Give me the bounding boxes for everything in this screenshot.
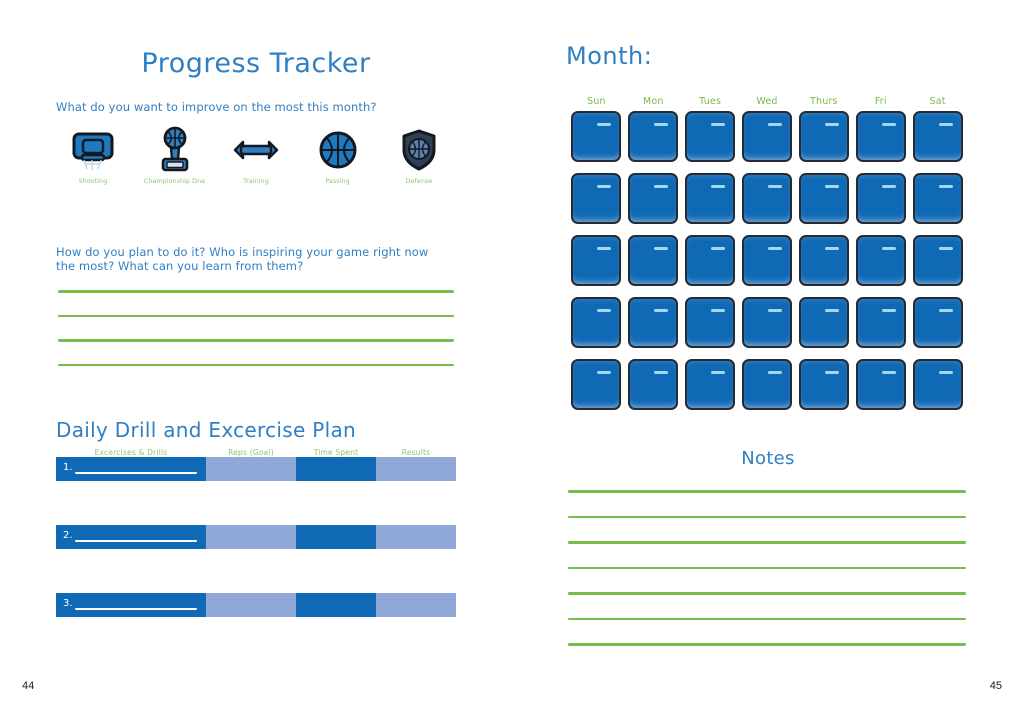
calendar-day-cell[interactable] [742, 297, 792, 348]
calendar-cell-wrapper [852, 235, 909, 297]
calendar-cell-wrapper [739, 359, 796, 421]
calendar-cell-wrapper [568, 173, 625, 235]
day-header-sun: Sun [568, 96, 625, 107]
calendar-day-cell[interactable] [799, 359, 849, 410]
drill-results-cell[interactable] [376, 593, 456, 617]
calendar-day-cell[interactable] [856, 297, 906, 348]
calendar-cell-wrapper [625, 111, 682, 173]
calendar-cell-wrapper [568, 297, 625, 359]
write-line [75, 472, 197, 474]
icon-option-passing[interactable]: Passing [301, 126, 375, 186]
calendar-cell-wrapper [625, 235, 682, 297]
calendar-day-cell[interactable] [571, 235, 621, 286]
drill-time-cell[interactable] [296, 457, 376, 481]
calendar-cell-wrapper [739, 111, 796, 173]
table-row: 1. [56, 457, 456, 481]
day-header-thurs: Thurs [795, 96, 852, 107]
right-page: Month: Sun Mon Tues Wed Thurs Fri Sat No… [512, 0, 1024, 708]
notes-title: Notes [512, 448, 1024, 469]
calendar-day-cell[interactable] [685, 235, 735, 286]
worksheet-spread: Progress Tracker What do you want to imp… [0, 0, 1024, 708]
calendar-cell-wrapper [625, 173, 682, 235]
calendar-day-cell[interactable] [685, 297, 735, 348]
notes-line[interactable] [568, 490, 966, 493]
row-number: 1. [63, 463, 73, 473]
calendar-cell-wrapper [909, 111, 966, 173]
drill-reps-cell[interactable] [206, 457, 296, 481]
calendar-cell-wrapper [795, 111, 852, 173]
notes-line[interactable] [568, 592, 966, 595]
calendar-cell-wrapper [795, 297, 852, 359]
icon-option-label: Defense [406, 178, 433, 186]
notes-line[interactable] [568, 516, 966, 519]
question-two-line-2: the most? What can you learn from them? [56, 259, 466, 273]
calendar-day-cell[interactable] [799, 297, 849, 348]
drill-time-cell[interactable] [296, 593, 376, 617]
calendar-day-cell[interactable] [913, 111, 963, 162]
calendar-cell-wrapper [625, 359, 682, 421]
question-two: How do you plan to do it? Who is inspiri… [56, 245, 466, 273]
calendar-day-cell[interactable] [856, 359, 906, 410]
calendar-day-cell[interactable] [742, 173, 792, 224]
left-page: Progress Tracker What do you want to imp… [0, 0, 512, 708]
drill-time-cell[interactable] [296, 525, 376, 549]
calendar-day-cell[interactable] [685, 173, 735, 224]
answer-lines [58, 290, 454, 388]
calendar-grid [568, 111, 966, 421]
calendar-day-cell[interactable] [856, 235, 906, 286]
calendar-cell-wrapper [909, 297, 966, 359]
day-header-sat: Sat [909, 96, 966, 107]
notes-line[interactable] [568, 618, 966, 621]
calendar-day-cell[interactable] [856, 111, 906, 162]
table-row: 3. [56, 593, 456, 617]
day-header-wed: Wed [739, 96, 796, 107]
calendar-cell-wrapper [795, 359, 852, 421]
calendar-cell-wrapper [568, 111, 625, 173]
calendar-cell-wrapper [682, 235, 739, 297]
answer-line[interactable] [58, 339, 454, 342]
calendar-cell-wrapper [568, 235, 625, 297]
notes-line[interactable] [568, 643, 966, 646]
calendar-day-cell[interactable] [913, 173, 963, 224]
drill-exercise-cell[interactable]: 3. [56, 593, 206, 617]
calendar-day-cell[interactable] [571, 173, 621, 224]
day-header-fri: Fri [852, 96, 909, 107]
calendar-cell-wrapper [795, 235, 852, 297]
icon-option-training[interactable]: Training [219, 126, 293, 186]
column-header-reps: Reps (Goal) [206, 448, 296, 457]
month-label: Month: [566, 42, 652, 70]
question-one: What do you want to improve on the most … [56, 100, 466, 114]
calendar-day-cell[interactable] [628, 359, 678, 410]
calendar-cell-wrapper [909, 173, 966, 235]
column-header-time: Time Spent [296, 448, 376, 457]
icon-option-defense[interactable]: Defense [382, 126, 456, 186]
write-line [75, 540, 197, 542]
calendar-cell-wrapper [682, 359, 739, 421]
calendar-cell-wrapper [682, 297, 739, 359]
calendar-day-cell[interactable] [571, 111, 621, 162]
calendar-day-cell[interactable] [856, 173, 906, 224]
answer-line[interactable] [58, 315, 454, 318]
calendar-cell-wrapper [625, 297, 682, 359]
calendar-cell-wrapper [682, 111, 739, 173]
table-row: 2. [56, 525, 456, 549]
answer-line[interactable] [58, 290, 454, 293]
dumbbell-icon [233, 126, 279, 174]
basketball-icon [318, 126, 358, 174]
column-header-results: Results [376, 448, 456, 457]
notes-line[interactable] [568, 567, 966, 570]
calendar-day-cell[interactable] [913, 297, 963, 348]
calendar-cell-wrapper [739, 235, 796, 297]
calendar-day-cell[interactable] [913, 359, 963, 410]
calendar-day-cell[interactable] [742, 111, 792, 162]
drill-plan-section: Daily Drill and Excercise Plan Excercise… [56, 418, 456, 661]
calendar-cell-wrapper [682, 173, 739, 235]
calendar-day-cell[interactable] [571, 359, 621, 410]
page-number-right: 45 [990, 680, 1002, 692]
day-header-tues: Tues [682, 96, 739, 107]
calendar-day-cell[interactable] [628, 297, 678, 348]
row-number: 2. [63, 531, 73, 541]
drill-results-cell[interactable] [376, 525, 456, 549]
calendar-cell-wrapper [909, 359, 966, 421]
icon-option-label: Passing [325, 178, 349, 186]
drill-plan-title: Daily Drill and Excercise Plan [56, 418, 456, 442]
drill-reps-cell[interactable] [206, 593, 296, 617]
calendar-day-headers: Sun Mon Tues Wed Thurs Fri Sat [568, 96, 966, 107]
drill-results-cell[interactable] [376, 457, 456, 481]
calendar-day-cell[interactable] [628, 173, 678, 224]
question-two-line-1: How do you plan to do it? Who is inspiri… [56, 245, 466, 259]
calendar-cell-wrapper [852, 111, 909, 173]
icon-option-label: Championship Dna [144, 178, 205, 186]
calendar-day-cell[interactable] [913, 235, 963, 286]
drill-table-header: Excercises & Drills Reps (Goal) Time Spe… [56, 448, 456, 457]
calendar-day-cell[interactable] [685, 359, 735, 410]
shield-basketball-icon [400, 126, 438, 174]
calendar-cell-wrapper [739, 297, 796, 359]
drill-exercise-cell[interactable]: 2. [56, 525, 206, 549]
day-header-mon: Mon [625, 96, 682, 107]
column-header-exercises: Excercises & Drills [56, 448, 206, 457]
basketball-hoop-icon [70, 126, 116, 174]
trophy-icon [156, 126, 194, 174]
calendar-cell-wrapper [852, 297, 909, 359]
calendar-day-cell[interactable] [742, 235, 792, 286]
improvement-icon-row: Shooting Championship Dna [56, 126, 456, 186]
calendar-cell-wrapper [909, 235, 966, 297]
write-line [75, 608, 197, 610]
row-number: 3. [63, 599, 73, 609]
notes-line[interactable] [568, 541, 966, 544]
calendar: Sun Mon Tues Wed Thurs Fri Sat [568, 82, 966, 421]
drill-exercise-cell[interactable]: 1. [56, 457, 206, 481]
calendar-day-cell[interactable] [799, 111, 849, 162]
calendar-day-cell[interactable] [742, 359, 792, 410]
icon-option-shooting[interactable]: Shooting [56, 126, 130, 186]
page-title: Progress Tracker [0, 48, 512, 79]
answer-line[interactable] [58, 364, 454, 367]
calendar-day-cell[interactable] [571, 297, 621, 348]
calendar-cell-wrapper [795, 173, 852, 235]
calendar-day-cell[interactable] [799, 235, 849, 286]
calendar-day-cell[interactable] [799, 173, 849, 224]
calendar-day-cell[interactable] [685, 111, 735, 162]
calendar-cell-wrapper [739, 173, 796, 235]
drill-reps-cell[interactable] [206, 525, 296, 549]
calendar-cell-wrapper [852, 173, 909, 235]
icon-option-label: Shooting [79, 178, 108, 186]
calendar-cell-wrapper [568, 359, 625, 421]
calendar-day-cell[interactable] [628, 235, 678, 286]
calendar-day-cell[interactable] [628, 111, 678, 162]
calendar-cell-wrapper [852, 359, 909, 421]
page-number-left: 44 [22, 680, 34, 692]
icon-option-championship-dna[interactable]: Championship Dna [138, 126, 212, 186]
notes-lines [568, 490, 966, 669]
icon-option-label: Training [243, 178, 269, 186]
